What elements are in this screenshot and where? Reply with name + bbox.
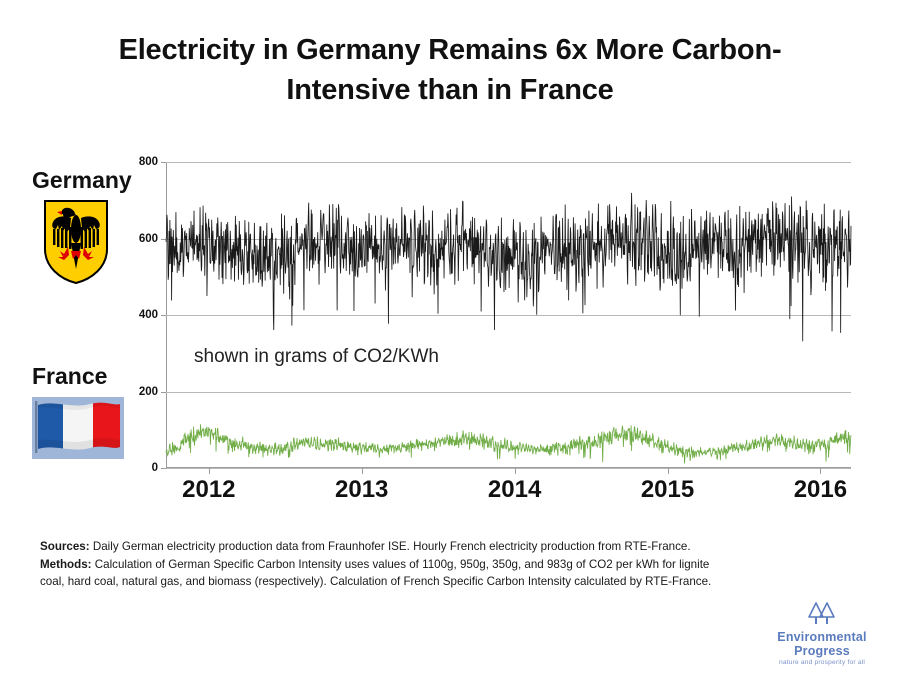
x-tick-label-2014: 2014 — [488, 476, 541, 504]
x-tick-2014 — [515, 468, 516, 474]
footnote-sources: Sources: Daily German electricity produc… — [40, 538, 730, 556]
chart-annotation: shown in grams of CO2/KWh — [194, 346, 439, 368]
france-legend-block: France — [32, 363, 162, 464]
germany-label: Germany — [32, 167, 160, 193]
x-tick-2016 — [820, 468, 821, 474]
x-tick-2012 — [209, 468, 210, 474]
x-tick-label-2016: 2016 — [794, 476, 847, 504]
two-pines-icon — [804, 600, 840, 628]
gridline-0 — [166, 468, 851, 469]
footnote-methods: Methods: Calculation of German Specific … — [40, 556, 730, 591]
x-tick-label-2012: 2012 — [182, 476, 235, 504]
y-tick-0 — [161, 468, 166, 469]
x-tick-label-2015: 2015 — [641, 476, 694, 504]
x-tick-label-2013: 2013 — [335, 476, 388, 504]
series-france — [166, 424, 851, 463]
data-series-layer — [166, 162, 851, 468]
page-title: Electricity in Germany Remains 6x More C… — [60, 30, 840, 110]
logo-name: Environmental Progress — [752, 630, 892, 658]
methods-lead: Methods: — [40, 558, 92, 571]
french-flag-icon — [32, 397, 124, 459]
france-label: France — [32, 363, 162, 389]
germany-legend-block: Germany — [30, 167, 160, 290]
series-germany — [166, 193, 851, 341]
sources-text: Daily German electricity production data… — [90, 540, 691, 553]
x-tick-2015 — [668, 468, 669, 474]
organization-logo: Environmental Progress nature and prospe… — [752, 600, 892, 666]
sources-lead: Sources: — [40, 540, 90, 553]
footnotes: Sources: Daily German electricity produc… — [40, 538, 730, 591]
methods-text: Calculation of German Specific Carbon In… — [40, 558, 711, 589]
logo-tagline: nature and prosperity for all — [752, 659, 892, 666]
german-coat-of-arms-icon — [42, 199, 110, 285]
x-tick-2013 — [362, 468, 363, 474]
y-tick-label-400: 400 — [139, 309, 158, 321]
plot-area: 0200400600800 20122013201420152016 shown… — [166, 162, 851, 468]
